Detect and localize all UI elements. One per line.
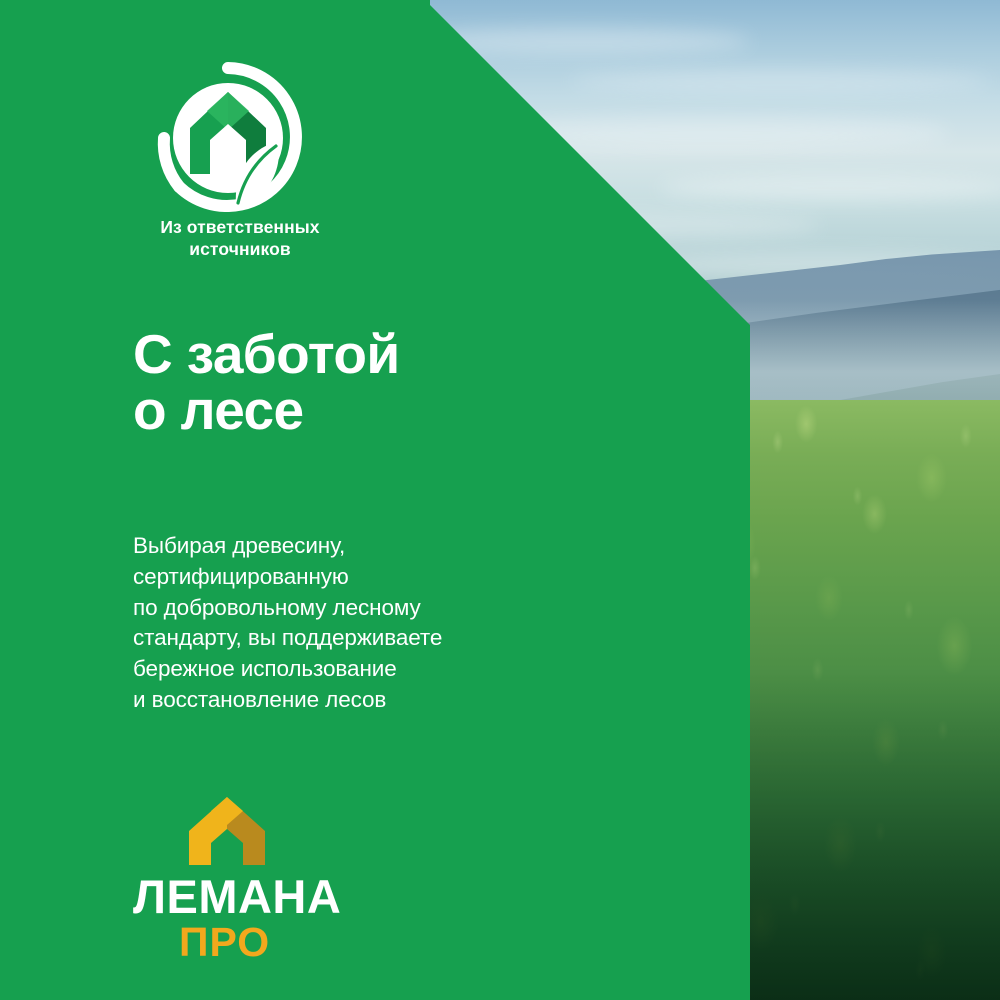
page-title: С заботой о лесе xyxy=(133,326,563,438)
body-paragraph: Выбирая древесину, сертифицированную по … xyxy=(133,531,553,716)
headline-line-2: о лесе xyxy=(133,382,563,438)
brand-name: ЛЕМАНА xyxy=(133,873,373,920)
cert-caption-line-2: источников xyxy=(189,239,291,259)
cloud-wisp xyxy=(660,176,1000,200)
headline-line-1: С заботой xyxy=(133,326,563,382)
lemana-house-icon xyxy=(181,795,273,867)
cert-caption-line-1: Из ответственных xyxy=(160,217,319,237)
brand-suffix: ПРО xyxy=(179,922,373,963)
responsible-sources-mark xyxy=(152,62,304,212)
body-line-6: и восстановление лесов xyxy=(133,685,553,716)
body-line-4: стандарту, вы поддерживаете xyxy=(133,623,553,654)
poster-canvas: Из ответственных источников С заботой о … xyxy=(0,0,1000,1000)
body-line-2: сертифицированную xyxy=(133,562,553,593)
body-line-5: бережное использование xyxy=(133,654,553,685)
lemana-pro-logo: ЛЕМАНА ПРО xyxy=(133,795,373,963)
body-line-3: по добровольному лесному xyxy=(133,593,553,624)
certification-caption: Из ответственных источников xyxy=(120,216,360,261)
body-line-1: Выбирая древесину, xyxy=(133,531,553,562)
cloud-wisp xyxy=(570,70,990,92)
